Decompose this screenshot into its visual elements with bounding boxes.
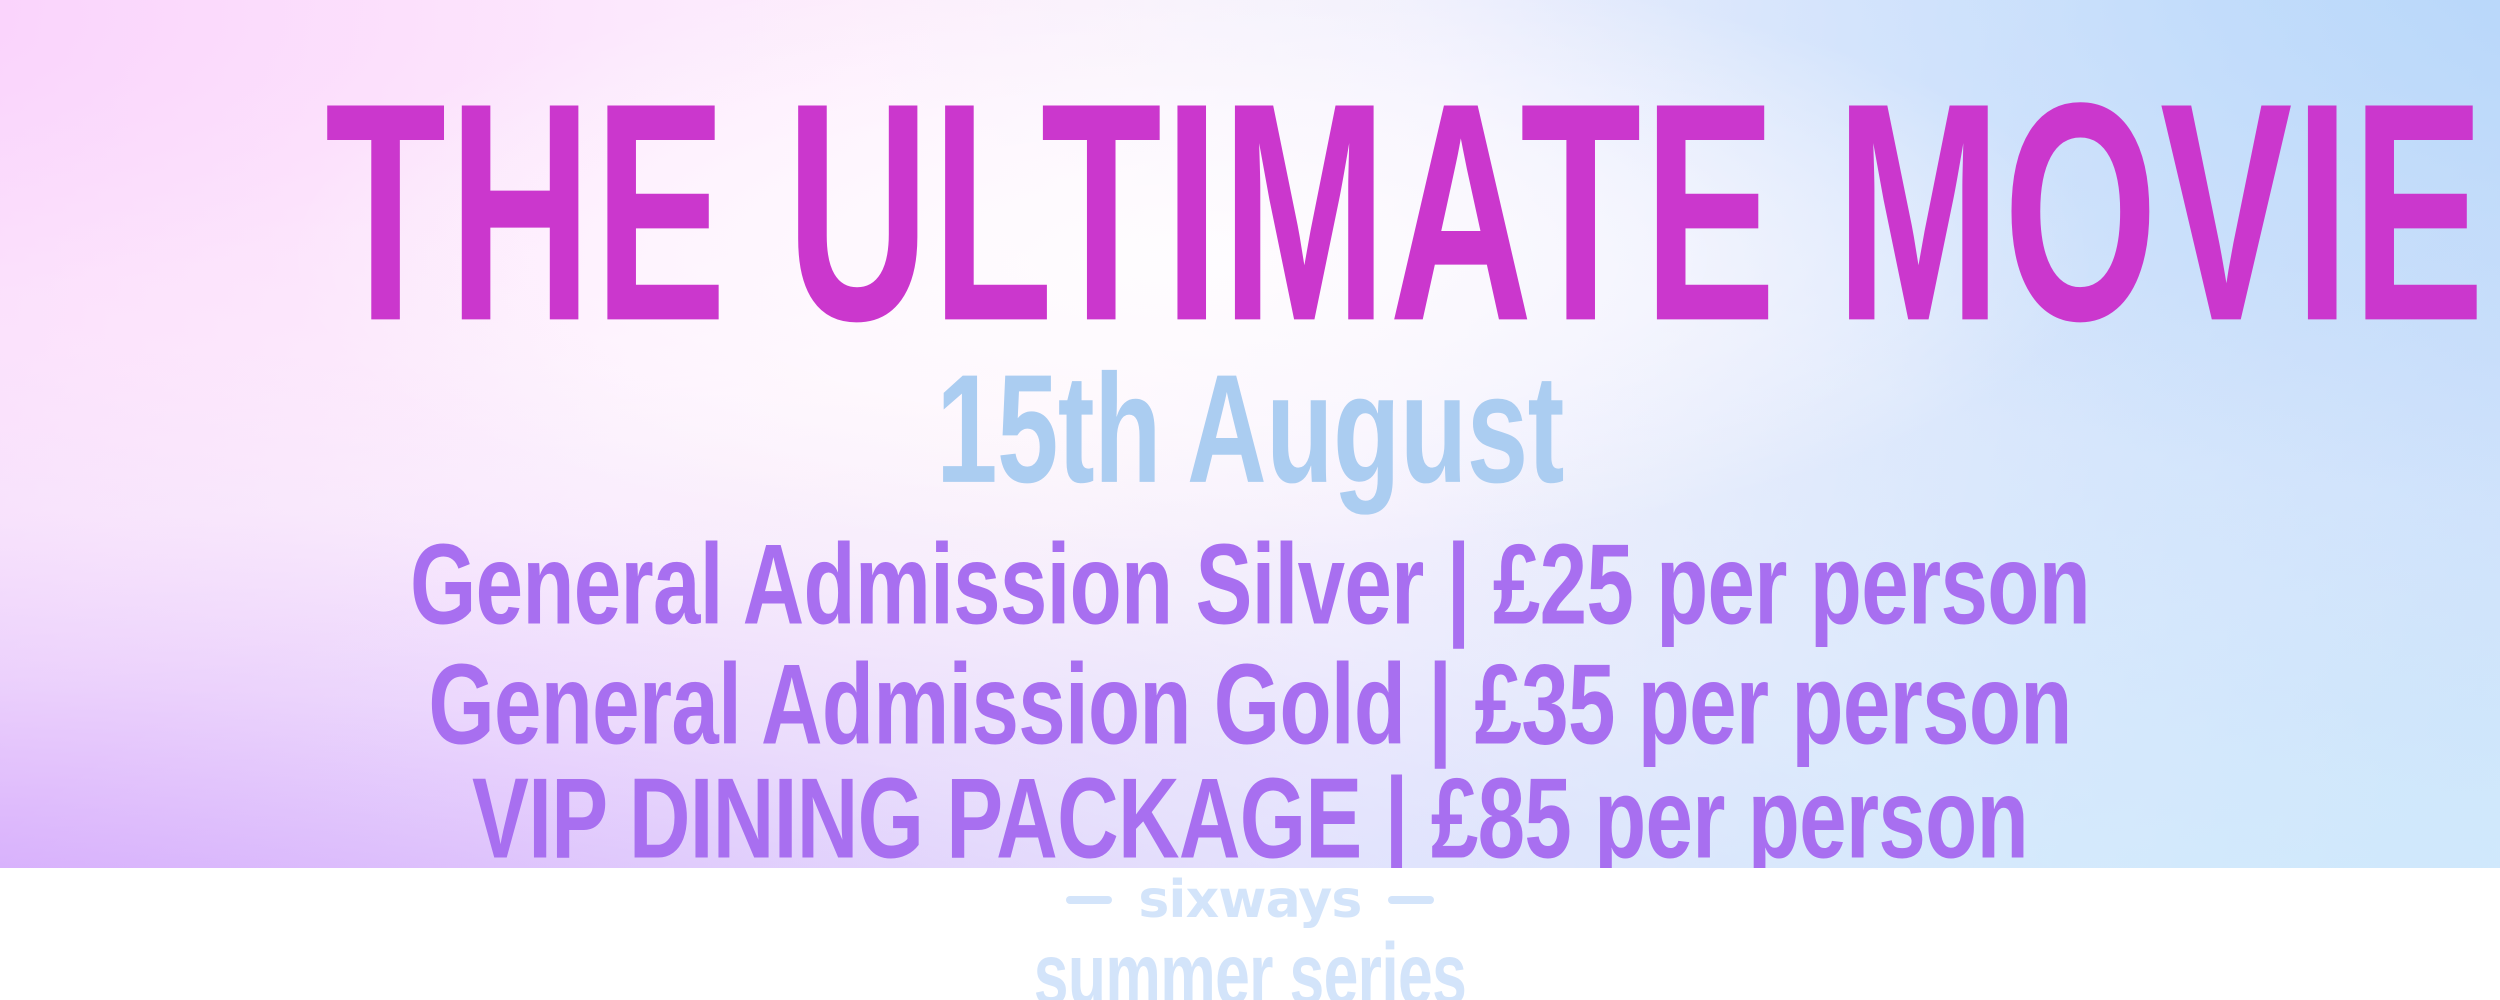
- promo-banner: THE ULTIMATE MOVIE MUSICAL 15th August G…: [0, 0, 2500, 1000]
- footer-strip: sixways summer series: [0, 868, 2500, 1000]
- logo-brand-row: sixways: [900, 874, 1600, 926]
- ticket-tier-vip: VIP DINING PACKAGE | £85 per person: [225, 762, 2275, 876]
- event-title: THE ULTIMATE MOVIE MUSICAL: [325, 56, 2175, 367]
- ticket-tier-silver: General Admission Silver | £25 per perso…: [225, 528, 2275, 642]
- logo-brand-text: sixways: [1138, 874, 1361, 926]
- ticket-tier-gold: General Admission Gold | £35 per person: [225, 648, 2275, 762]
- dash-right-icon: [1388, 896, 1434, 904]
- sixways-logo: sixways summer series: [900, 868, 1600, 1000]
- banner-text-stack: THE ULTIMATE MOVIE MUSICAL 15th August G…: [0, 0, 2500, 868]
- event-date: 15th August: [250, 352, 2250, 507]
- dash-left-icon: [1066, 896, 1112, 904]
- logo-series-text: summer series: [970, 930, 1530, 1000]
